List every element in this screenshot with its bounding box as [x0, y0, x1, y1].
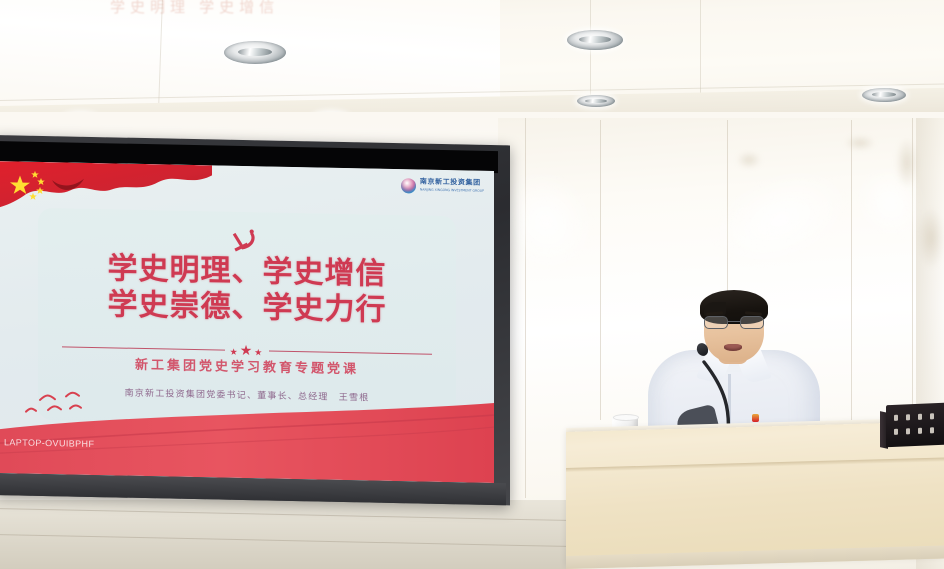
pc-name-watermark: LAPTOP-OVUIBPHF	[4, 437, 94, 449]
chair-perforation	[894, 415, 898, 421]
reflected-banner-text: 学史明理 学史增信	[110, 0, 530, 14]
floor	[0, 500, 566, 569]
glasses-icon	[704, 316, 764, 329]
ceiling-seam	[700, 0, 701, 100]
wall-smudge	[918, 208, 944, 268]
floor-seam	[0, 534, 566, 547]
glasses-lens-right	[740, 316, 764, 329]
chinese-flag-graphic	[0, 161, 212, 225]
downlight-icon	[567, 30, 623, 50]
glasses-lens-left	[704, 316, 728, 329]
glasses-bridge	[728, 321, 740, 322]
chair-perforation	[906, 414, 910, 420]
floor-seam	[0, 508, 566, 521]
company-name-en: NANJING XINGONG INVESTMENT GROUP	[420, 186, 484, 195]
company-name: 南京新工投资集团 NANJING XINGONG INVESTMENT GROU…	[420, 178, 484, 195]
wall-seam	[851, 120, 852, 420]
wall-seam	[600, 120, 601, 420]
downlight-icon	[577, 95, 615, 107]
projection-screen: 南京新工投资集团 NANJING XINGONG INVESTMENT GROU…	[0, 135, 510, 505]
conference-room-photo: 学史明理 学史增信	[0, 0, 944, 569]
presentation-slide[interactable]: 南京新工投资集团 NANJING XINGONG INVESTMENT GROU…	[0, 161, 494, 483]
divider-line-right	[269, 351, 432, 355]
company-logo: 南京新工投资集团 NANJING XINGONG INVESTMENT GROU…	[401, 177, 484, 195]
microphone-stem	[726, 348, 732, 434]
downlight-icon	[862, 88, 906, 102]
chair-perforation	[918, 414, 922, 420]
chair[interactable]	[886, 403, 944, 447]
chair-perforation	[918, 428, 922, 434]
red-wave-graphic	[0, 387, 494, 483]
company-mark-icon	[401, 178, 416, 193]
divider-line-left	[62, 346, 225, 350]
wall-smudge	[896, 138, 918, 188]
slide-title: 学史明理、学史增信 学史崇德、学史力行	[0, 249, 494, 331]
chair-perforation	[894, 429, 898, 435]
chair-perforation	[930, 413, 934, 419]
wall-smudge	[737, 152, 761, 168]
downlight-icon	[224, 41, 286, 64]
chair-perforation	[930, 427, 934, 433]
chair-perforation	[906, 428, 910, 434]
wall-smudge	[845, 136, 875, 150]
